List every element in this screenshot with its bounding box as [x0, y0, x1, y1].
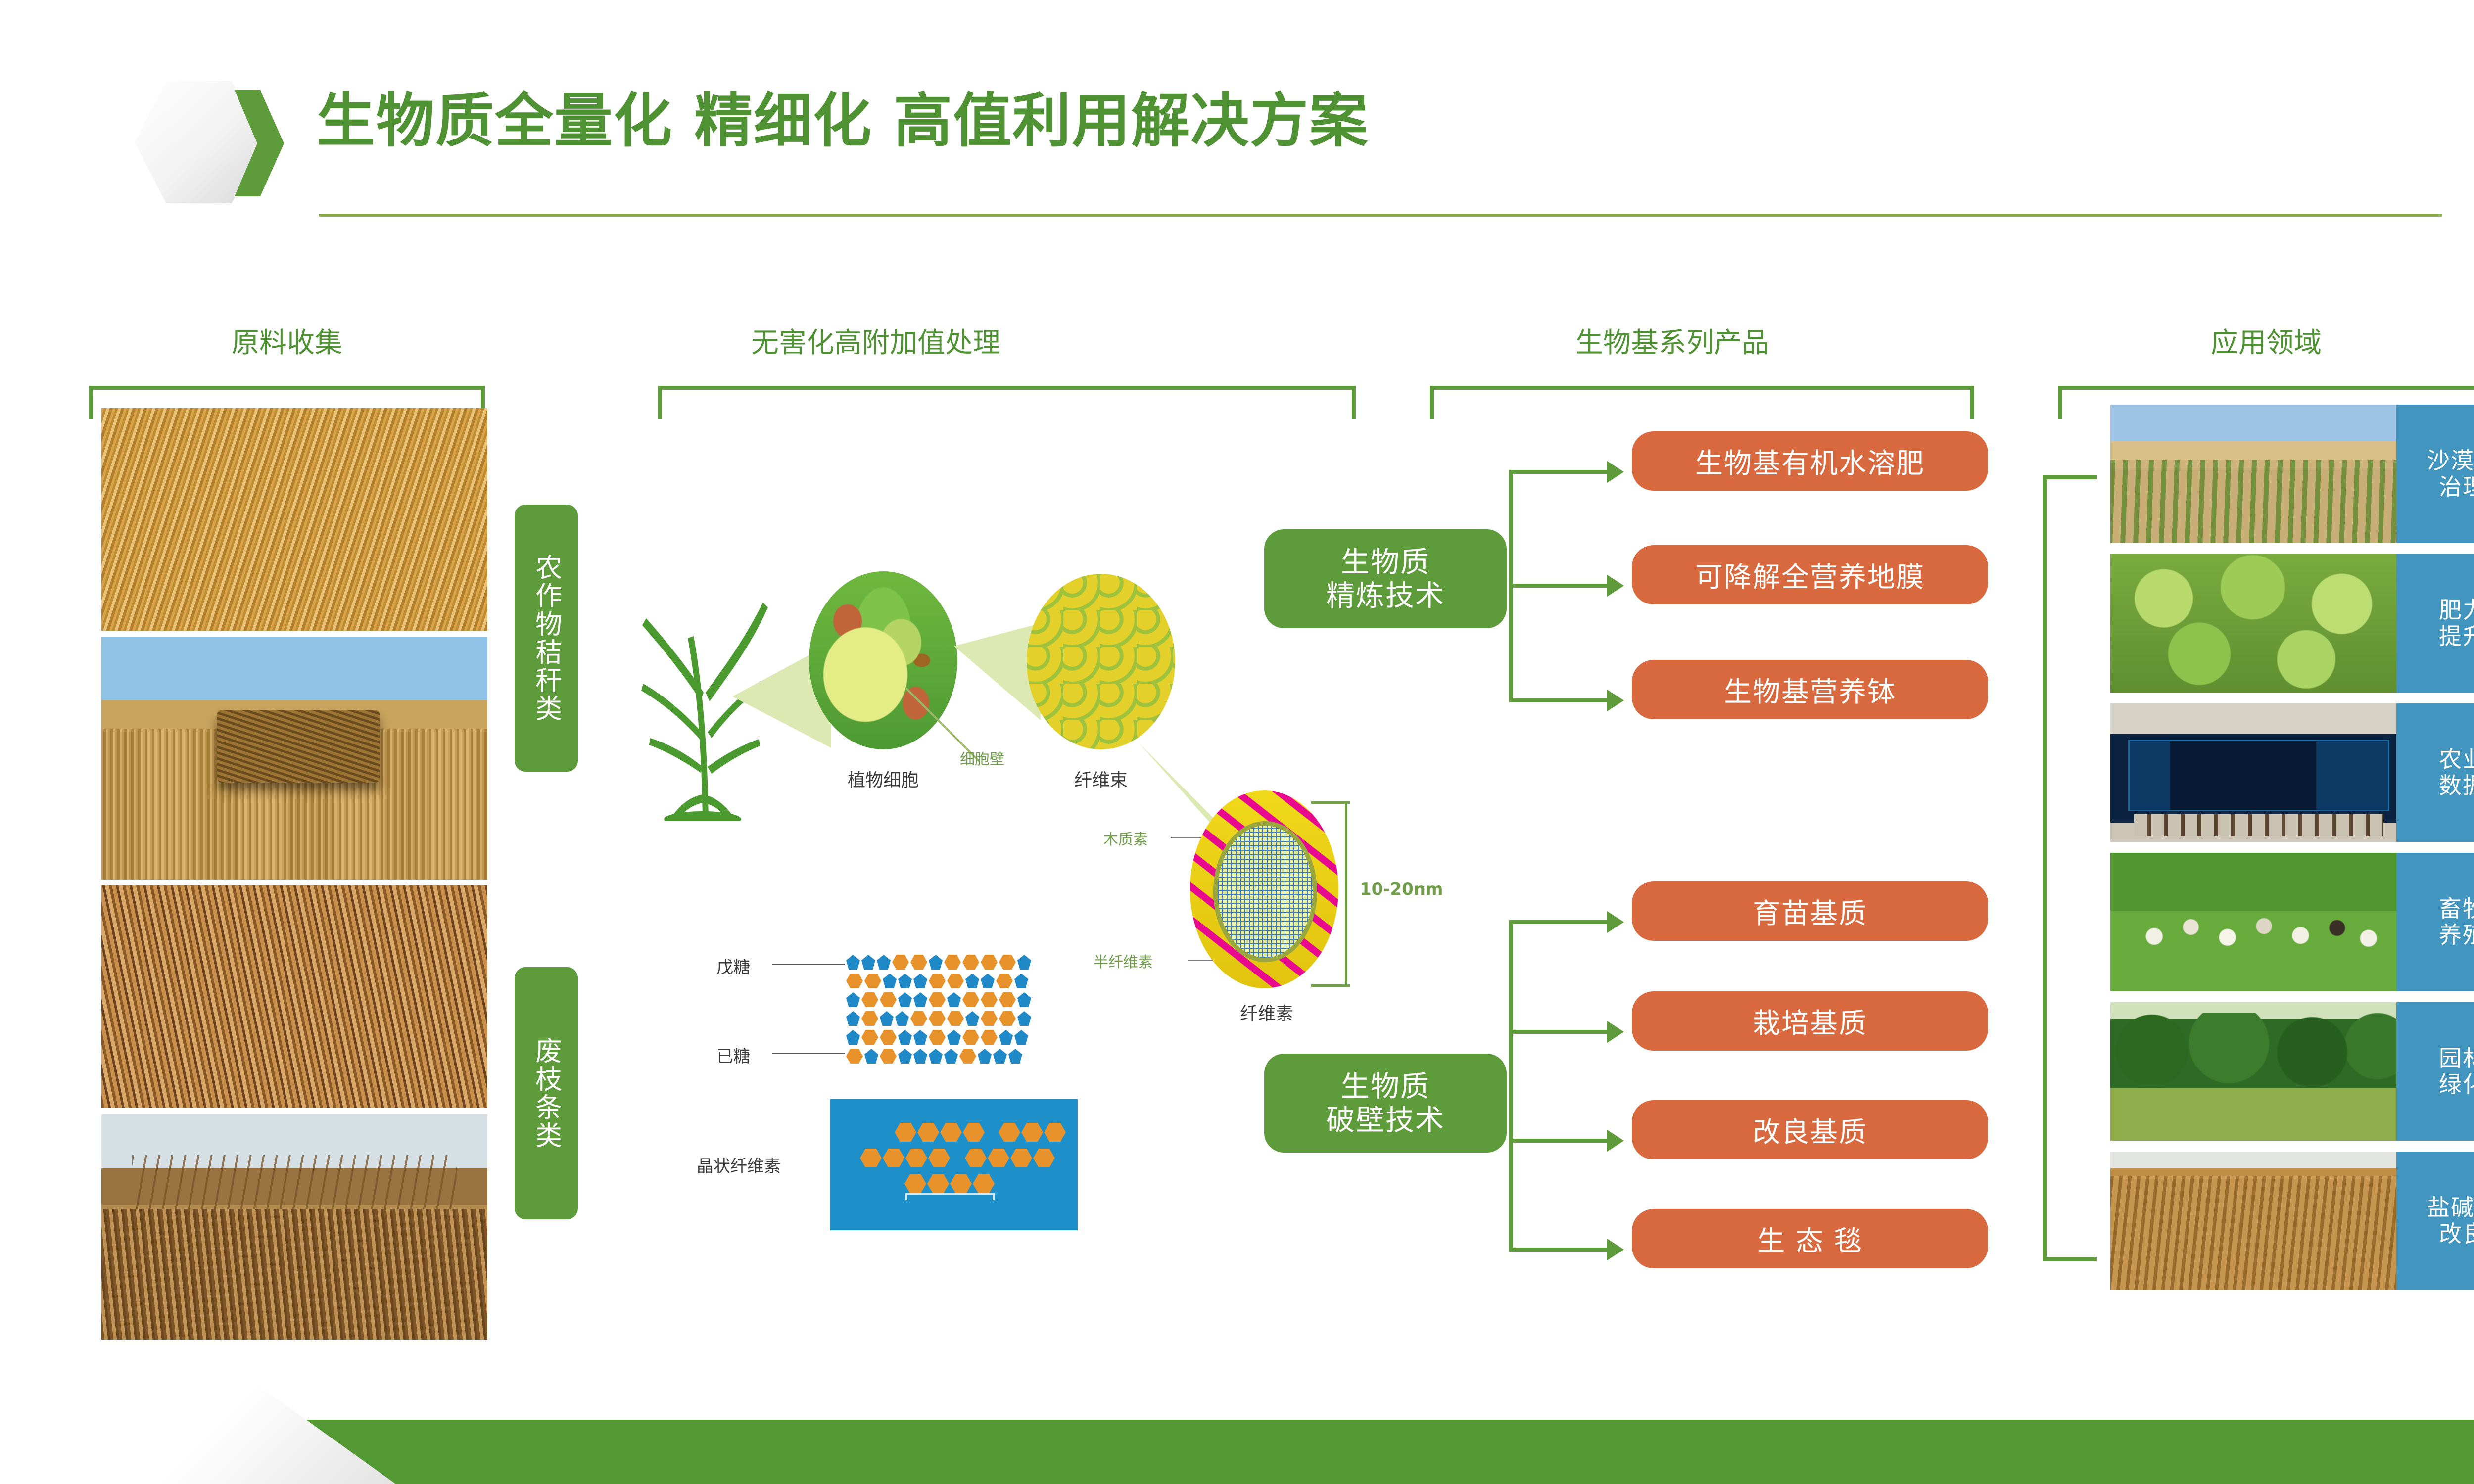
- app-saline-line2: 改良: [2427, 1221, 2474, 1247]
- column-header-applications: 应用领域: [2093, 321, 2439, 361]
- fiber-bundle-illustration: [1027, 574, 1175, 749]
- connector-wall-branch-1: [1509, 920, 1608, 924]
- applications-bracket: [2043, 475, 2097, 1261]
- app-greening-line2: 绿化: [2439, 1071, 2474, 1098]
- arrow-refining-2: [1607, 575, 1624, 597]
- connector-wall-branch-3: [1509, 1139, 1608, 1143]
- saline-land-photo: [2110, 1152, 2407, 1290]
- product-improvement-substrate[interactable]: 改良基质: [1632, 1100, 1988, 1159]
- app-fertility-line2: 提升: [2439, 623, 2474, 649]
- raw-tag-crop-straw: 农作物秸秆类: [515, 505, 578, 772]
- app-desert-line2: 治理: [2427, 474, 2474, 500]
- app-livestock-line2: 养殖: [2439, 922, 2474, 948]
- app-livestock-line1: 畜牧: [2439, 896, 2474, 922]
- column-header-raw-material: 原料收集: [148, 321, 426, 361]
- crystalline-cellulose-illustration: [830, 1099, 1078, 1230]
- app-desert-line1: 沙漠化: [2427, 448, 2474, 474]
- arrow-wall-3: [1607, 1130, 1624, 1152]
- orchard-pruning-photo: [101, 1114, 487, 1340]
- lignin-label: 木质素: [1103, 827, 1148, 849]
- hexose-label: 已糖: [716, 1043, 750, 1067]
- column-header-processing: 无害化高附加值处理: [623, 321, 1128, 361]
- footer-white-wedge: [0, 1348, 396, 1484]
- hemicellulose-leader-line: [1188, 960, 1213, 961]
- cabbage-field-photo: [2110, 554, 2407, 693]
- application-saline-land-improvement[interactable]: 盐碱地 改良: [2396, 1152, 2474, 1290]
- raw-tag-waste-branches: 废枝条类: [515, 967, 578, 1219]
- application-agriculture-data[interactable]: 农业 数据: [2396, 703, 2474, 842]
- bracket-processing: [658, 386, 1356, 419]
- connector-refining-branch-2: [1509, 584, 1608, 588]
- cellulose-core: [1213, 821, 1317, 962]
- desert-control-photo: [2110, 405, 2407, 543]
- hexose-leader-line: [772, 1053, 845, 1054]
- tech-box-wall-breaking[interactable]: 生物质 破壁技术: [1264, 1054, 1507, 1153]
- tech-box-refining[interactable]: 生物质 精炼技术: [1264, 529, 1507, 628]
- sugar-chain-row: [846, 992, 1031, 1007]
- crystalline-cellulose-label: 晶状纤维素: [697, 1153, 781, 1177]
- arrow-refining-1: [1607, 461, 1624, 483]
- arrow-wall-4: [1607, 1239, 1624, 1260]
- product-cultivation-substrate[interactable]: 栽培基质: [1632, 991, 1988, 1051]
- chevron-right-icon: [232, 90, 286, 196]
- sugar-chain-row: [846, 1030, 1028, 1045]
- app-data-line1: 农业: [2439, 746, 2474, 773]
- sugar-chain-row: [846, 974, 1028, 988]
- plant-cell-caption: 植物细胞: [804, 766, 962, 791]
- connector-refining-branch-3: [1509, 698, 1608, 702]
- tech-wall-line1: 生物质: [1326, 1069, 1445, 1103]
- corn-stalks-photo: [101, 408, 487, 631]
- app-saline-line1: 盐碱地: [2427, 1195, 2474, 1221]
- tech-refining-line2: 精炼技术: [1326, 579, 1445, 612]
- dry-branches-photo: [101, 885, 487, 1108]
- product-degradable-mulch-film[interactable]: 可降解全营养地膜: [1632, 545, 1988, 604]
- bracket-products: [1430, 386, 1974, 419]
- pentose-label: 戊糖: [716, 954, 750, 978]
- product-water-soluble-fertilizer[interactable]: 生物基有机水溶肥: [1632, 431, 1988, 491]
- tech-refining-line1: 生物质: [1326, 545, 1445, 579]
- connector-refining-branch-1: [1509, 470, 1608, 474]
- dimension-tick-top: [1311, 801, 1350, 804]
- arrow-wall-2: [1607, 1021, 1624, 1043]
- agri-data-center-photo: [2110, 703, 2407, 842]
- app-greening-line1: 园林: [2439, 1045, 2474, 1071]
- connector-wall-trunk: [1509, 920, 1513, 1252]
- dimension-bar-vertical: [1345, 801, 1347, 987]
- app-data-line2: 数据: [2439, 773, 2474, 799]
- park-greening-photo: [2110, 1002, 2407, 1141]
- application-livestock-breeding[interactable]: 畜牧 养殖: [2396, 853, 2474, 991]
- application-desert-control[interactable]: 沙漠化 治理: [2396, 405, 2474, 543]
- cellulose-caption: 纤维素: [1207, 999, 1326, 1025]
- product-nutrition-pot[interactable]: 生物基营养钵: [1632, 660, 1988, 719]
- slide-root: 生物质全量化 精细化 高值利用解决方案 原料收集 无害化高附加值处理 生物基系列…: [0, 0, 2474, 1484]
- product-seedling-substrate[interactable]: 育苗基质: [1632, 881, 1988, 941]
- cell-wall-label: 细胞壁: [960, 747, 1004, 769]
- application-fertility-improvement[interactable]: 肥力 提升: [2396, 554, 2474, 693]
- product-ecological-blanket[interactable]: 生 态 毯: [1632, 1209, 1988, 1268]
- pentose-leader-line: [772, 964, 845, 965]
- dimension-label: 10-20nm: [1360, 880, 1443, 899]
- hemicellulose-label: 半纤维素: [1094, 950, 1153, 972]
- application-landscape-greening[interactable]: 园林 绿化: [2396, 1002, 2474, 1141]
- connector-wall-branch-2: [1509, 1030, 1608, 1034]
- straw-bale-photo: [101, 637, 487, 880]
- app-fertility-line1: 肥力: [2439, 597, 2474, 623]
- sugar-chain-row: [846, 1011, 1031, 1026]
- sheep-grazing-photo: [2110, 853, 2407, 991]
- tech-wall-line2: 破壁技术: [1326, 1103, 1445, 1137]
- title-underline: [319, 214, 2442, 217]
- connector-wall-branch-4: [1509, 1248, 1608, 1252]
- sugar-chain-row: [846, 955, 1031, 970]
- lignin-leader-line: [1171, 837, 1201, 838]
- arrow-wall-1: [1607, 911, 1624, 933]
- sugar-chain-row: [846, 1049, 1022, 1064]
- page-title: 生物质全量化 精细化 高值利用解决方案: [317, 92, 1369, 150]
- arrow-refining-3: [1607, 690, 1624, 711]
- dimension-tick-bottom: [1311, 984, 1350, 987]
- column-header-products: 生物基系列产品: [1425, 321, 1920, 361]
